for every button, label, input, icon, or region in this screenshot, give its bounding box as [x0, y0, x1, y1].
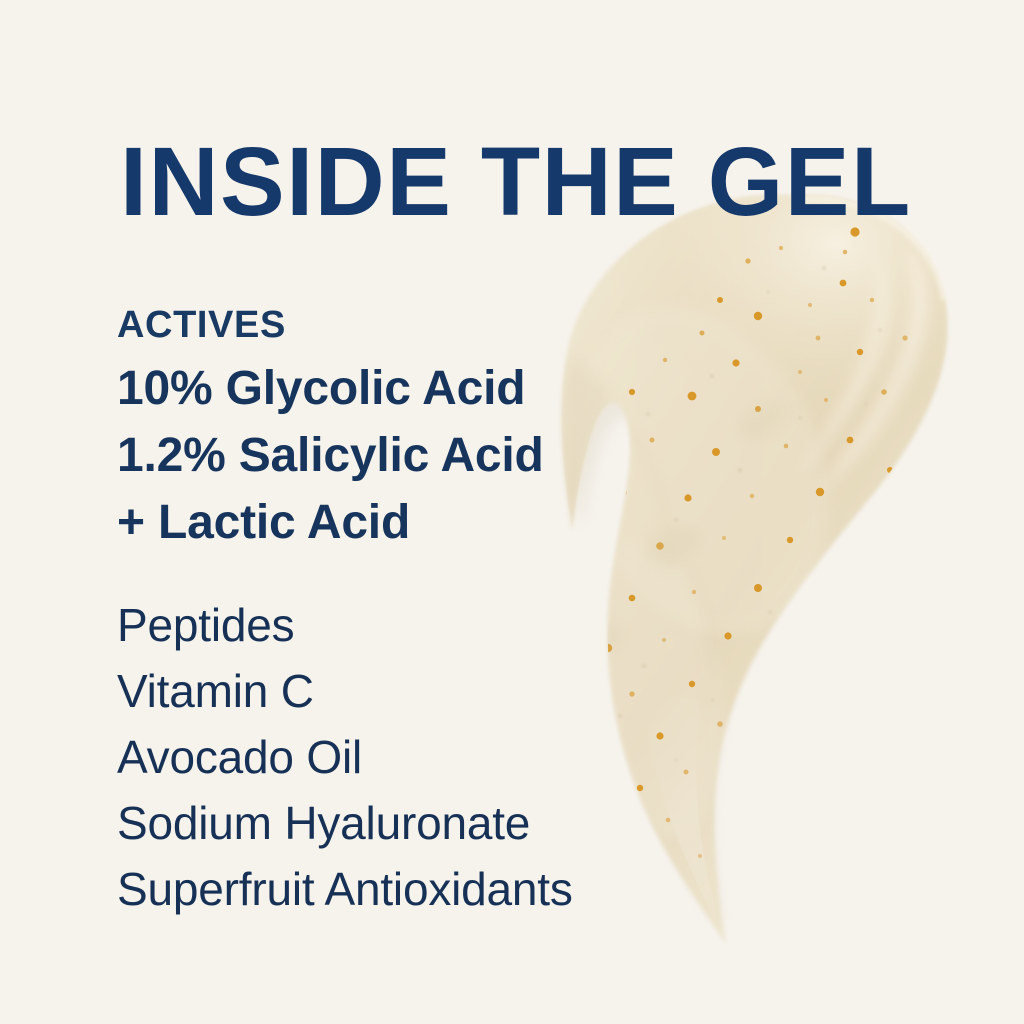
infographic-canvas: INSIDE THE GEL ACTIVES 10% Glycolic Acid…	[0, 0, 1024, 1024]
gel-speckles	[602, 266, 882, 762]
list-item: Superfruit Antioxidants	[117, 856, 573, 922]
list-item: Peptides	[117, 592, 573, 658]
actives-list: 10% Glycolic Acid 1.2% Salicylic Acid + …	[117, 355, 544, 556]
list-item: Sodium Hyaluronate	[117, 790, 573, 856]
list-item: 10% Glycolic Acid	[117, 355, 544, 422]
list-item: 1.2% Salicylic Acid	[117, 422, 544, 489]
page-title: INSIDE THE GEL	[120, 133, 912, 230]
list-item: + Lactic Acid	[117, 489, 544, 556]
actives-heading: ACTIVES	[117, 306, 286, 344]
list-item: Vitamin C	[117, 658, 573, 724]
list-item: Avocado Oil	[117, 724, 573, 790]
gel-body	[525, 165, 980, 944]
gel-beads	[583, 227, 908, 858]
ingredients-list: Peptides Vitamin C Avocado Oil Sodium Hy…	[117, 592, 573, 922]
gel-shadow	[573, 215, 934, 930]
